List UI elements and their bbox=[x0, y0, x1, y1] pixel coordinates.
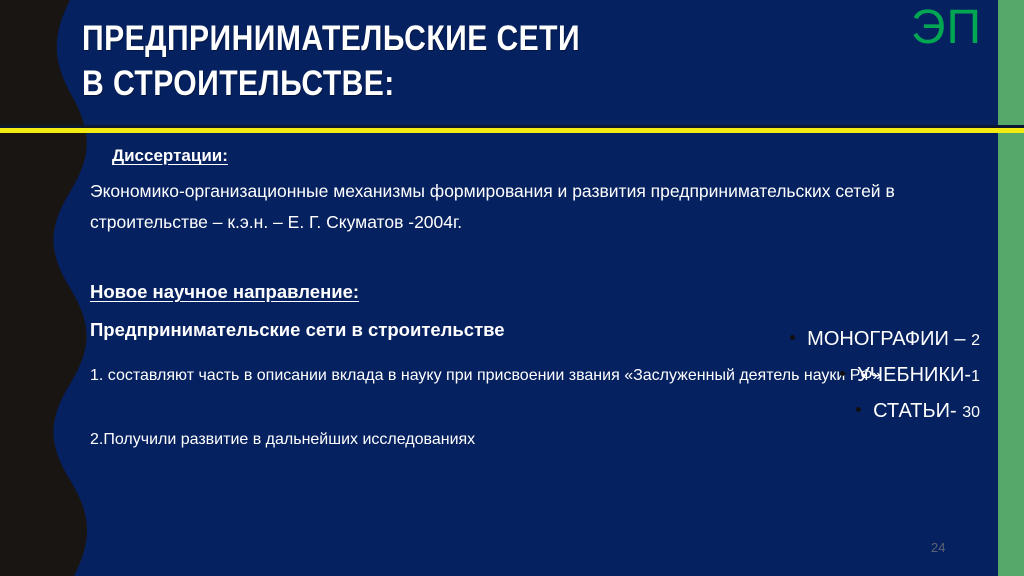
bullet-dot-icon bbox=[840, 371, 845, 376]
list-item: МОНОГРАФИИ – 2 bbox=[460, 322, 980, 358]
new-direction-heading: Новое научное направление: bbox=[90, 281, 359, 303]
slide-header: ПРЕДПРИНИМАТЕЛЬСКИЕ СЕТИ В СТРОИТЕЛЬСТВЕ… bbox=[0, 0, 1024, 128]
count-value: 2 bbox=[971, 332, 980, 349]
new-direction-subtitle: Предпринимательские сети в строительстве bbox=[90, 319, 505, 341]
page-title: ПРЕДПРИНИМАТЕЛЬСКИЕ СЕТИ В СТРОИТЕЛЬСТВЕ… bbox=[82, 16, 761, 106]
logo-ep-icon: ЭП bbox=[911, 2, 982, 54]
dissertations-heading: Диссертации: bbox=[112, 146, 228, 166]
dissertations-text: Экономико-организационные механизмы форм… bbox=[90, 176, 980, 238]
bullet-dot-icon bbox=[790, 335, 795, 340]
list-item: СТАТЬИ- 30 bbox=[460, 394, 980, 430]
list-item: УЧЕБНИКИ-1 bbox=[460, 358, 980, 394]
count-label: СТАТЬИ- bbox=[873, 400, 962, 422]
count-value: 1 bbox=[971, 368, 980, 385]
divider-accent-rule bbox=[0, 128, 1024, 133]
count-value: 30 bbox=[962, 404, 980, 421]
slide-canvas: ПРЕДПРИНИМАТЕЛЬСКИЕ СЕТИ В СТРОИТЕЛЬСТВЕ… bbox=[0, 0, 1024, 576]
count-label: УЧЕБНИКИ- bbox=[857, 364, 971, 386]
bullet-dot-icon bbox=[856, 407, 861, 412]
publication-counts-list: МОНОГРАФИИ – 2 УЧЕБНИКИ-1 СТАТЬИ- 30 bbox=[460, 322, 980, 430]
count-label: МОНОГРАФИИ – bbox=[807, 328, 971, 350]
page-number: 24 bbox=[931, 540, 945, 555]
